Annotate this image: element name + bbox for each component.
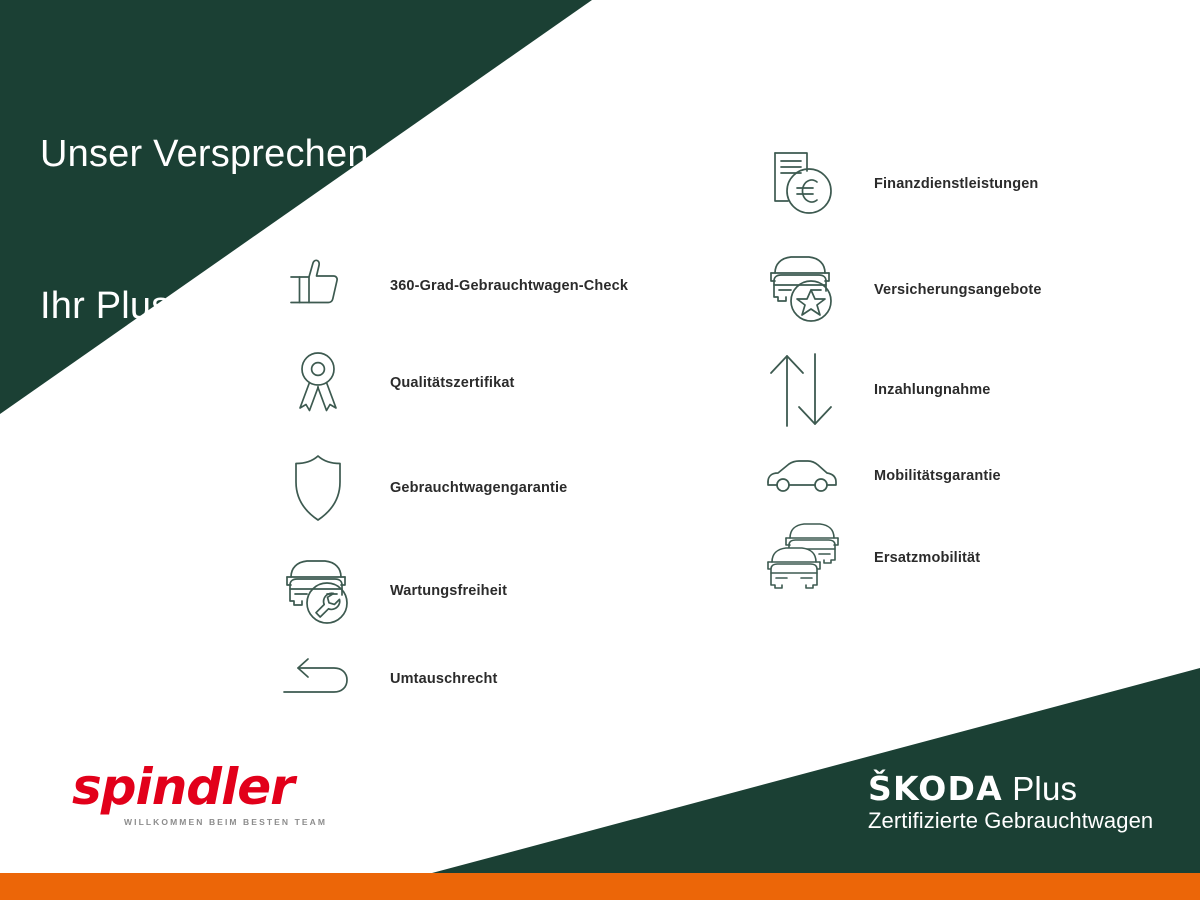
- feature-item: Qualitätszertifikat: [268, 333, 515, 433]
- skoda-plus-logo: ŠKODA Plus Zertifizierte Gebrauchtwagen: [868, 772, 1153, 834]
- feature-label: Versicherungsangebote: [874, 282, 1042, 298]
- feature-item: Wartungsfreiheit: [268, 541, 507, 641]
- feature-label: Wartungsfreiheit: [390, 583, 507, 599]
- orange-accent-bar: [0, 873, 1200, 900]
- feature-label: Mobilitätsgarantie: [874, 468, 1001, 484]
- skoda-wordmark: ŠKODA: [868, 769, 1003, 808]
- document-euro-icon: [752, 147, 852, 221]
- headline-line-1: Unser Versprechen.: [40, 129, 379, 180]
- feature-label: Ersatzmobilität: [874, 550, 980, 566]
- shield-icon: [268, 452, 368, 524]
- feature-item: Gebrauchtwagengarantie: [268, 438, 567, 538]
- feature-item: Inzahlungnahme: [752, 340, 991, 440]
- award-rosette-icon: [268, 348, 368, 418]
- skoda-plus-suffix: Plus: [1003, 770, 1077, 807]
- return-arrow-icon: [268, 656, 368, 702]
- two-cars-icon: [752, 520, 852, 596]
- up-down-arrows-icon: [752, 350, 852, 430]
- car-star-icon: [752, 253, 852, 327]
- feature-item: Versicherungsangebote: [752, 240, 1042, 340]
- feature-label: Qualitätszertifikat: [390, 375, 515, 391]
- skoda-plus-subtitle: Zertifizierte Gebrauchtwagen: [868, 808, 1153, 834]
- feature-item: Ersatzmobilität: [752, 516, 980, 600]
- feature-label: Inzahlungnahme: [874, 382, 991, 398]
- feature-label: 360-Grad-Gebrauchtwagen-Check: [390, 278, 628, 294]
- spindler-dealer-logo: spindler WILLKOMMEN BEIM BESTEN TEAM: [72, 762, 362, 827]
- car-side-icon: [752, 458, 852, 494]
- feature-item: Finanzdienstleistungen: [752, 134, 1038, 234]
- feature-item: Mobilitätsgarantie: [752, 434, 1001, 518]
- feature-item: 360-Grad-Gebrauchtwagen-Check: [268, 236, 628, 336]
- feature-label: Finanzdienstleistungen: [874, 176, 1038, 192]
- thumbs-up-icon: [268, 255, 368, 317]
- feature-label: Umtauschrecht: [390, 671, 498, 687]
- promo-banner: Unser Versprechen. Ihr Plus. 360-Grad-Ge…: [0, 0, 1200, 900]
- spindler-wordmark: spindler: [72, 762, 362, 812]
- skoda-plus-title: ŠKODA Plus: [868, 772, 1153, 807]
- spindler-tagline: WILLKOMMEN BEIM BESTEN TEAM: [124, 817, 362, 827]
- car-wrench-icon: [268, 555, 368, 627]
- feature-item: Umtauschrecht: [268, 634, 498, 724]
- feature-label: Gebrauchtwagengarantie: [390, 480, 567, 496]
